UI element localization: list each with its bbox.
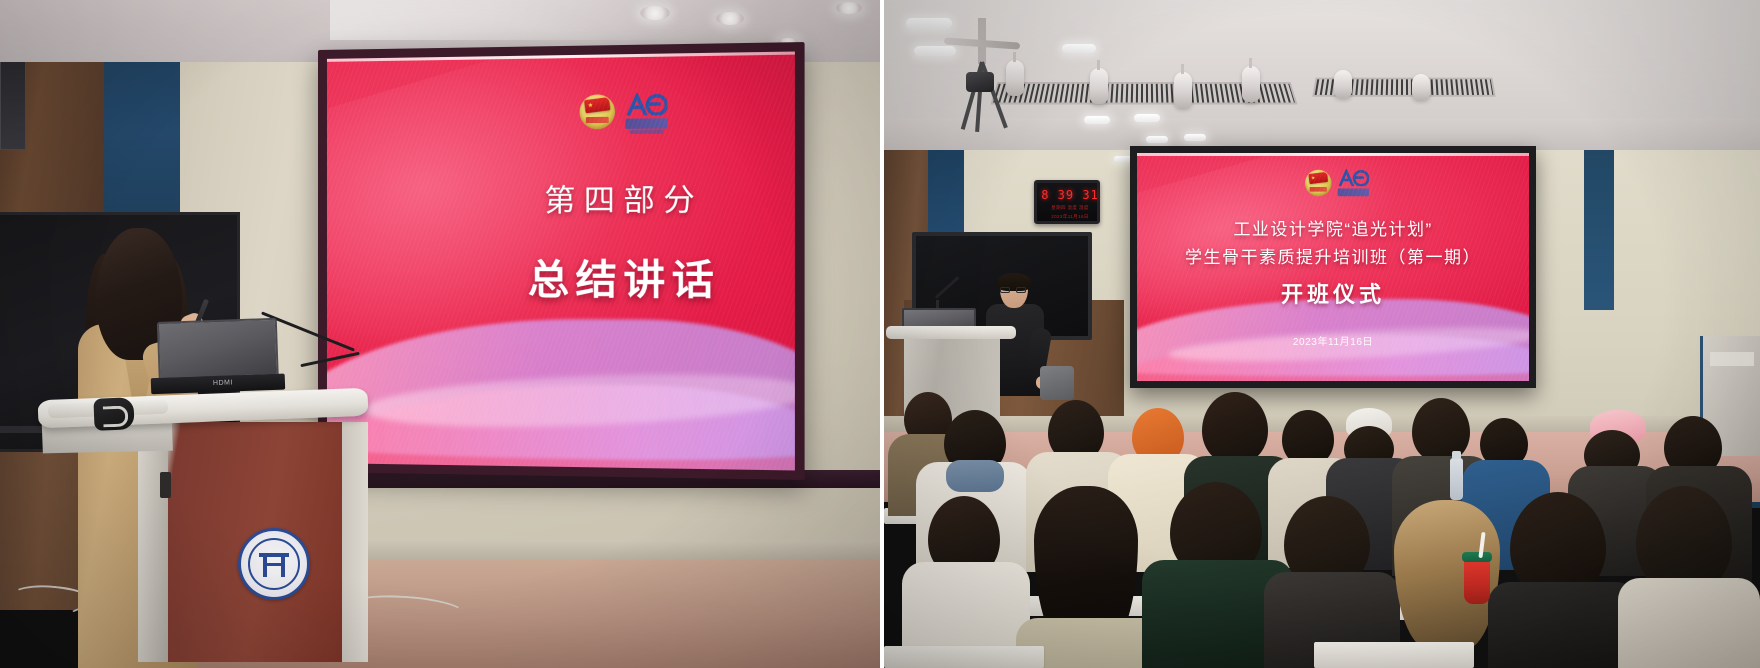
downlight [716,12,744,25]
emblem-banner [1310,187,1327,192]
podium-top-rail [886,326,1016,339]
stage-chair [1040,366,1074,400]
screen-logo-group [580,93,668,131]
university-seal-emblem-icon [238,528,310,600]
track-spotlight-icon [1090,68,1108,104]
spotlight-stem [1181,64,1184,74]
screen-surface: 第四部分 总结讲话 [327,52,795,471]
laptop-screen [157,318,279,380]
photo-divider [880,0,884,668]
communist-youth-league-emblem-icon [580,94,615,129]
right-presentation-screen: 工业设计学院“追光计划” 学生骨干素质提升培训班（第一期） 开班仪式 2023年… [1130,146,1536,388]
ao-logo-subtext-2 [630,130,664,134]
spotlight-stem [1249,58,1252,68]
ao-blue-logo-icon [1338,169,1369,197]
podium-latch [160,472,171,498]
screen-surface: 工业设计学院“追光计划” 学生骨干素质提升培训班（第一期） 开班仪式 2023年… [1137,153,1529,381]
downlight [640,6,670,20]
ceiling-light [1084,116,1110,124]
projector-body [966,72,994,92]
water-bottle [1450,458,1463,500]
track-spotlight-icon [1174,72,1192,108]
clock-subline-1: 星期四 温度 湿度 [1041,204,1099,211]
right-screen-date: 2023年11月16日 [1137,333,1529,348]
track-spotlight-icon [1412,74,1430,100]
audience-desk [884,646,1044,668]
emblem-banner [586,117,609,123]
left-presentation-screen: 第四部分 总结讲话 [318,42,805,480]
audience-person-body [1618,578,1760,668]
laptop-brand-label: HDMI [213,379,233,387]
screen-title-block: 第四部分 总结讲话 [479,174,772,307]
audience-area [884,400,1760,668]
left-wall-dark-fixture [0,60,26,150]
downlight [836,2,862,14]
clock-subline-2: 2023年11月16日 [1041,213,1099,220]
left-photo: 第四部分 总结讲话 [0,0,880,668]
ceiling-projector-mount [936,18,1032,128]
left-podium [38,388,368,668]
communist-youth-league-emblem-icon [1305,170,1332,197]
ao-blue-logo-icon [625,93,667,130]
screen-title-line2: 总结讲话 [479,247,772,307]
screenshot-root: 第四部分 总结讲话 [0,0,1760,668]
ceiling-light [1146,136,1168,143]
spotlight-stem [1097,60,1100,70]
right-screen-title-line2: 学生骨干素质提升培训班（第一期） [1137,243,1529,268]
red-flag-icon [1308,172,1328,184]
red-flag-icon [584,97,610,113]
podium-clamp-fitting [93,397,134,431]
podium-laptop: HDMI [149,318,279,394]
track-spotlight-icon [1334,70,1352,98]
ceiling-sheen [330,0,880,40]
right-screen-title-line1: 工业设计学院“追光计划” [1137,215,1529,240]
track-spotlight-icon [1242,66,1260,102]
ceiling-light [1134,114,1160,122]
audience-desk [1314,642,1474,668]
ao-logo-subtext [1338,189,1369,197]
ceiling-light [1184,134,1206,141]
right-wall-blue-panel-2 [1584,150,1614,310]
clock-time-display: 8 39 31 [1041,188,1099,202]
ao-logo-svg [1338,169,1369,186]
screen-logo-group [1305,169,1369,197]
right-screen-title-line3: 开班仪式 [1137,277,1529,309]
audience-scarf [946,460,1004,492]
ao-logo-svg [625,93,667,116]
podium-frame-right [342,422,368,662]
audience-head [1412,398,1470,462]
audience-person-body [1488,582,1638,668]
right-photo: 8 39 31 星期四 温度 湿度 2023年11月16日 [884,0,1760,668]
ao-logo-subtext [625,118,667,129]
wall-digital-clock: 8 39 31 星期四 温度 湿度 2023年11月16日 [1034,180,1100,224]
glasses-icon [1000,287,1028,293]
screen-title-line1: 第四部分 [479,174,772,220]
cup-lid [1462,552,1492,562]
drink-cup [1464,558,1490,604]
ceiling-light [1062,44,1096,53]
bottle-cap [1452,451,1461,459]
right-side-furniture-shelf [1710,352,1754,366]
seal-glyph [259,551,289,577]
podium-frame-left [138,422,168,662]
audience-head [1202,392,1268,464]
